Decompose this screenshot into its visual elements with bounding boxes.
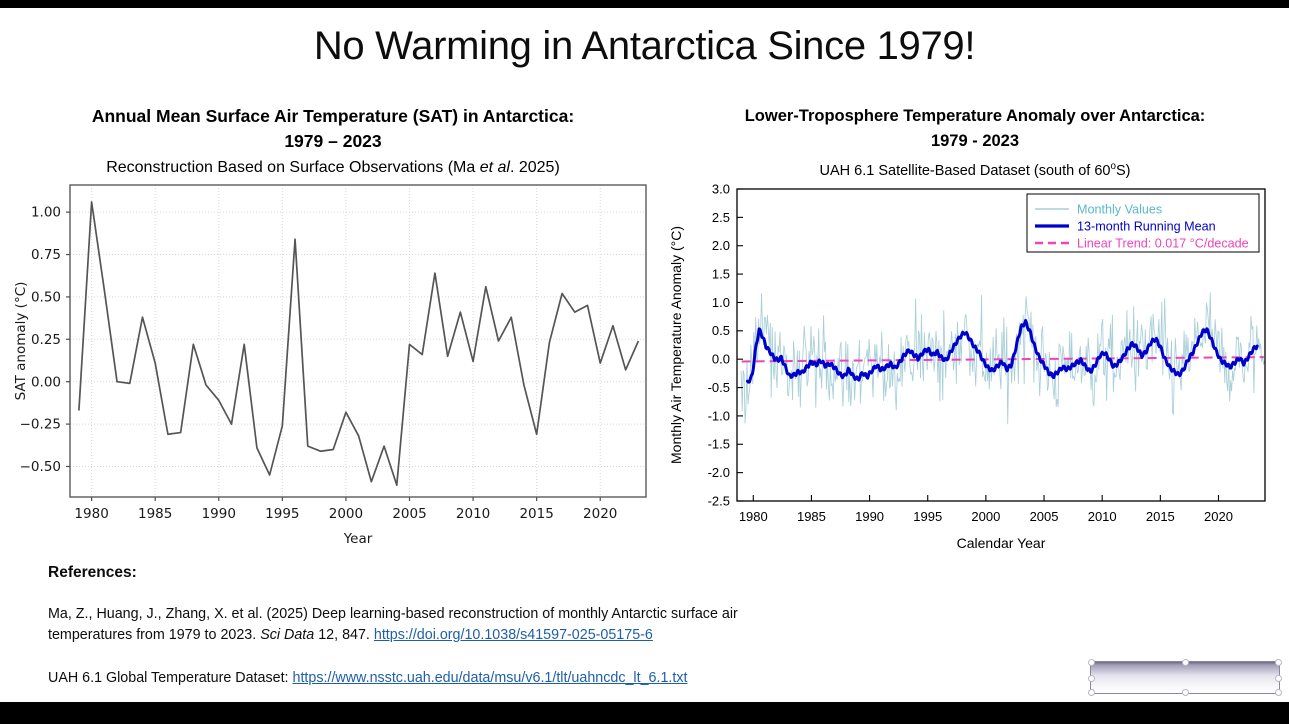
reference-entry-2: UAH 6.1 Global Temperature Dataset: http… <box>48 668 778 689</box>
svg-text:0.75: 0.75 <box>31 247 61 263</box>
svg-text:-0.5: -0.5 <box>708 380 730 395</box>
svg-text:1990: 1990 <box>855 509 884 524</box>
svg-text:1995: 1995 <box>265 506 299 522</box>
svg-text:0.50: 0.50 <box>31 290 61 306</box>
svg-text:2.0: 2.0 <box>712 238 730 253</box>
svg-text:2015: 2015 <box>519 506 553 522</box>
resize-handle-middle-right[interactable] <box>1275 675 1282 682</box>
resize-handle-bottom-right[interactable] <box>1275 689 1282 696</box>
svg-text:1995: 1995 <box>913 509 942 524</box>
svg-text:2010: 2010 <box>456 506 490 522</box>
svg-text:-2.5: -2.5 <box>708 493 730 508</box>
page-title: No Warming in Antarctica Since 1979! <box>0 24 1289 69</box>
left-subtitle-italic: et al <box>480 159 510 176</box>
ref1-doi-link[interactable]: https://doi.org/10.1038/s41597-025-05175… <box>374 627 653 643</box>
references-section: References: Ma, Z., Huang, J., Zhang, X.… <box>48 564 1048 702</box>
right-chart-area: -2.5-2.0-1.5-1.0-0.50.00.51.01.52.02.53.… <box>665 179 1285 564</box>
svg-text:2015: 2015 <box>1146 509 1175 524</box>
svg-text:3.0: 3.0 <box>712 181 730 196</box>
ref1-text-mid: 12, 847. <box>314 627 374 643</box>
svg-text:-2.0: -2.0 <box>708 465 730 480</box>
resize-handle-middle-left[interactable] <box>1088 675 1095 682</box>
ref2-text-pre: UAH 6.1 Global Temperature Dataset: <box>48 670 293 686</box>
svg-text:2000: 2000 <box>329 506 363 522</box>
right-subtitle-pre: UAH 6.1 Satellite-Based Dataset (south o… <box>820 163 1111 179</box>
left-chart-subtitle: Reconstruction Based on Surface Observat… <box>8 159 658 177</box>
svg-text:-1.0: -1.0 <box>708 408 730 423</box>
svg-text:2005: 2005 <box>1030 509 1059 524</box>
svg-text:2020: 2020 <box>1204 509 1233 524</box>
left-subtitle-pre: Reconstruction Based on Surface Observat… <box>106 159 480 176</box>
svg-text:-1.5: -1.5 <box>708 437 730 452</box>
resize-handle-top-center[interactable] <box>1182 659 1189 666</box>
svg-text:1990: 1990 <box>202 506 236 522</box>
sat-annual-mean-chart: −0.50−0.250.000.250.500.751.001980198519… <box>8 177 658 567</box>
svg-text:1980: 1980 <box>739 509 768 524</box>
right-subtitle-post: S) <box>1116 163 1131 179</box>
left-chart-title-line2: 1979 – 2023 <box>8 129 658 154</box>
references-heading: References: <box>48 564 1048 582</box>
resize-handle-bottom-left[interactable] <box>1088 689 1095 696</box>
svg-text:2005: 2005 <box>392 506 426 522</box>
svg-text:1.00: 1.00 <box>31 205 61 221</box>
svg-text:Calendar Year: Calendar Year <box>957 535 1046 551</box>
selected-empty-textbox[interactable] <box>1090 661 1280 694</box>
svg-text:1.0: 1.0 <box>712 295 730 310</box>
svg-text:2010: 2010 <box>1088 509 1117 524</box>
svg-text:Monthly Air Temperature Anomal: Monthly Air Temperature Anomaly (°C) <box>668 226 684 464</box>
svg-text:1985: 1985 <box>138 506 172 522</box>
svg-text:2.5: 2.5 <box>712 210 730 225</box>
svg-text:Year: Year <box>343 531 373 547</box>
svg-text:SAT anomaly (°C): SAT anomaly (°C) <box>13 282 29 401</box>
svg-text:0.00: 0.00 <box>31 374 61 390</box>
svg-text:−0.25: −0.25 <box>20 417 61 433</box>
slide-canvas: No Warming in Antarctica Since 1979! Ann… <box>0 8 1289 702</box>
svg-text:1985: 1985 <box>797 509 826 524</box>
left-chart-title-line1: Annual Mean Surface Air Temperature (SAT… <box>8 104 658 129</box>
right-chart-subtitle: UAH 6.1 Satellite-Based Dataset (south o… <box>665 161 1285 179</box>
svg-text:−0.50: −0.50 <box>20 459 61 475</box>
chart-panel-right: Lower-Troposphere Temperature Anomaly ov… <box>665 104 1285 569</box>
left-chart-area: −0.50−0.250.000.250.500.751.001980198519… <box>8 177 658 567</box>
svg-text:0.0: 0.0 <box>712 351 730 366</box>
right-chart-title-line1: Lower-Troposphere Temperature Anomaly ov… <box>665 104 1285 129</box>
reference-entry-1: Ma, Z., Huang, J., Zhang, X. et al. (202… <box>48 604 778 646</box>
ref2-dataset-link[interactable]: https://www.nsstc.uah.edu/data/msu/v6.1/… <box>293 670 688 686</box>
resize-handle-top-left[interactable] <box>1088 659 1095 666</box>
svg-text:1980: 1980 <box>74 506 108 522</box>
svg-text:0.25: 0.25 <box>31 332 61 348</box>
svg-text:0.5: 0.5 <box>712 323 730 338</box>
right-chart-title-line2: 1979 - 2023 <box>665 129 1285 154</box>
ref1-journal: Sci Data <box>260 627 314 643</box>
svg-text:Linear Trend: 0.017 °C/decade: Linear Trend: 0.017 °C/decade <box>1077 236 1249 250</box>
left-subtitle-post: . 2025) <box>510 159 560 176</box>
chart-panel-left: Annual Mean Surface Air Temperature (SAT… <box>8 104 658 569</box>
resize-handle-bottom-center[interactable] <box>1182 689 1189 696</box>
svg-text:2020: 2020 <box>583 506 617 522</box>
resize-handle-top-right[interactable] <box>1275 659 1282 666</box>
uah-lt-anomaly-chart: -2.5-2.0-1.5-1.0-0.50.00.51.01.52.02.53.… <box>665 179 1285 564</box>
svg-text:2000: 2000 <box>971 509 1000 524</box>
svg-text:1.5: 1.5 <box>712 266 730 281</box>
svg-text:Monthly Values: Monthly Values <box>1077 202 1162 216</box>
svg-text:13-month Running Mean: 13-month Running Mean <box>1077 219 1216 233</box>
